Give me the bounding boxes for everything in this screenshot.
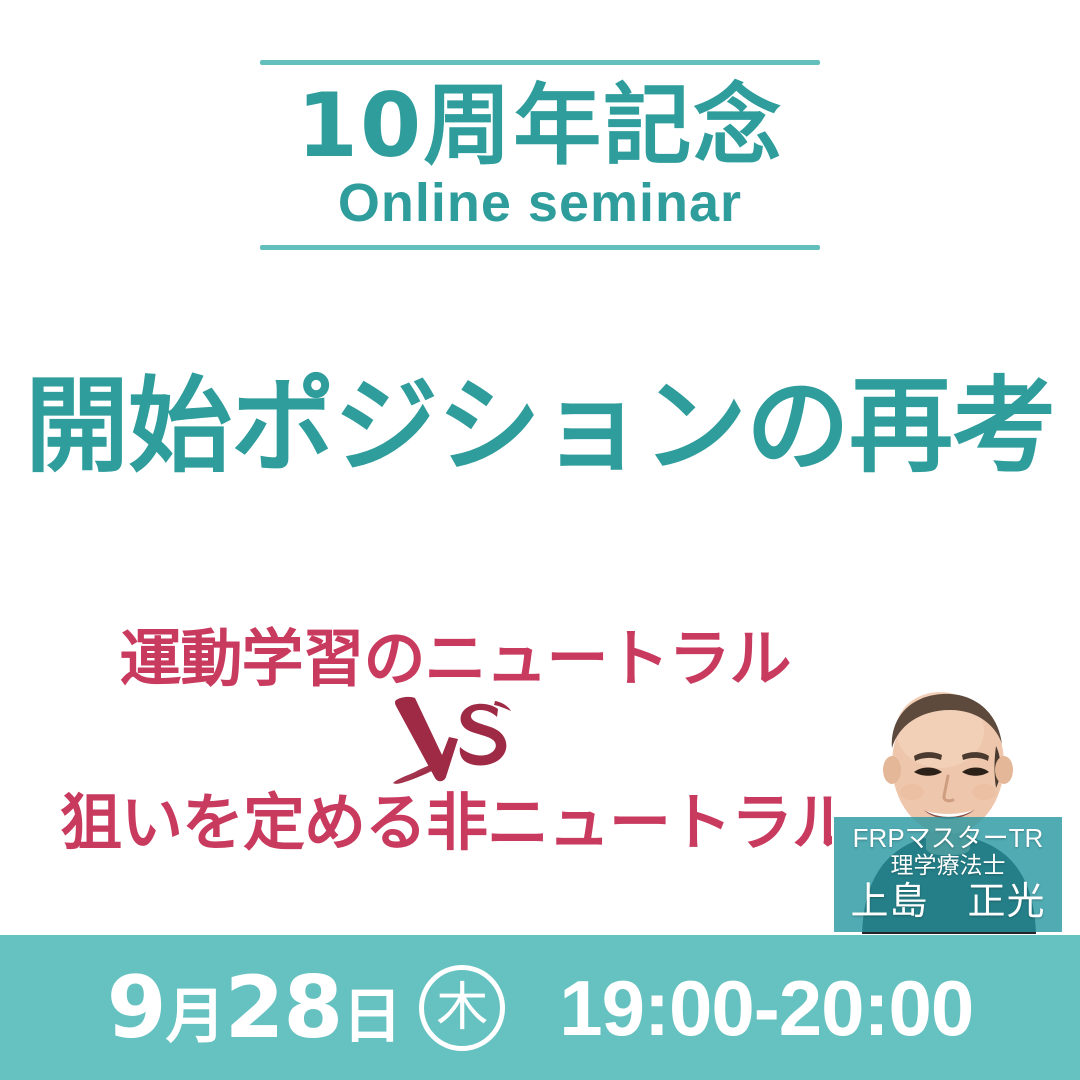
event-time: 19:00-20:00 (559, 969, 973, 1047)
speaker-role: FRPマスターTR (838, 824, 1058, 853)
weekday-badge: 木 (419, 965, 505, 1051)
seminar-poster: 10周年記念 Online seminar 開始ポジションの再考 運動学習のニュ… (0, 0, 1080, 1080)
speaker-license: 理学療法士 (838, 853, 1058, 879)
versus-section: 運動学習のニュートラル 狙いを定める非ニュートラル (60, 625, 850, 857)
speaker-badge: FRPマスターTR 理学療法士 上島 正光 (834, 817, 1062, 932)
header-block: 10周年記念 Online seminar (0, 60, 1080, 250)
anniversary-heading: 10周年記念 (0, 79, 1080, 172)
event-date: 9月28日 (107, 965, 402, 1051)
date-month-kanji: 月 (166, 987, 225, 1047)
seminar-subtitle: Online seminar (0, 174, 1080, 232)
page-title: 開始ポジションの再考 (0, 368, 1080, 484)
date-day-number: 28 (225, 965, 343, 1051)
versus-bottom-label: 狙いを定める非ニュートラル (60, 789, 850, 857)
speaker-name: 上島 正光 (838, 880, 1058, 923)
footer-bar: 9月28日 木 19:00-20:00 (0, 935, 1080, 1080)
versus-mark (60, 693, 850, 785)
versus-top-label: 運動学習のニュートラル (60, 625, 850, 693)
header-rule-top (260, 60, 820, 65)
date-day-kanji: 日 (342, 987, 401, 1047)
header-rule-bottom (260, 245, 820, 250)
speaker-card: FRPマスターTR 理学療法士 上島 正光 (832, 652, 1064, 934)
date-group: 9月28日 木 (107, 965, 506, 1051)
vs-brush-icon (380, 693, 530, 785)
date-month-number: 9 (107, 965, 166, 1051)
